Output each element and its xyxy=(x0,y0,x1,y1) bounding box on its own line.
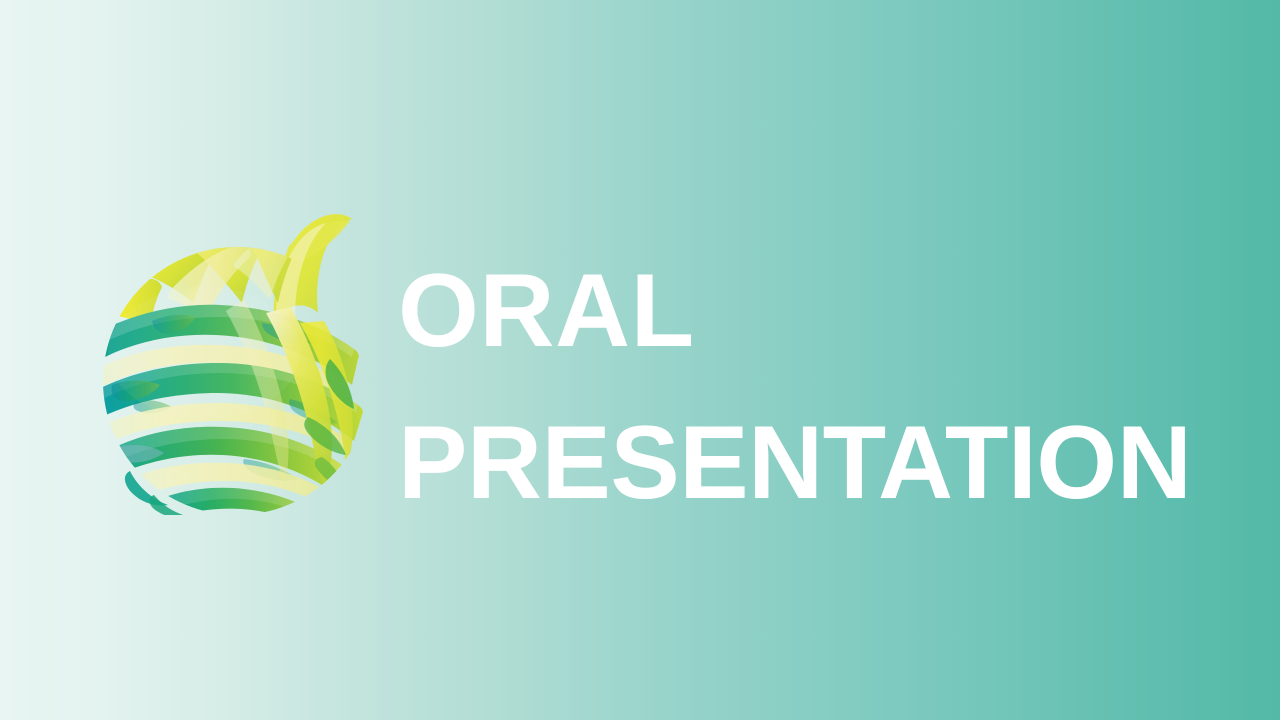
title-line-2: PRESENTATION xyxy=(398,388,1198,540)
title-block: ORAL PRESENTATION xyxy=(398,236,1198,540)
globe-ribbon-leaf-logo xyxy=(94,203,380,515)
title-line-1: ORAL xyxy=(398,236,1198,388)
slide-canvas: ORAL PRESENTATION xyxy=(0,0,1280,720)
